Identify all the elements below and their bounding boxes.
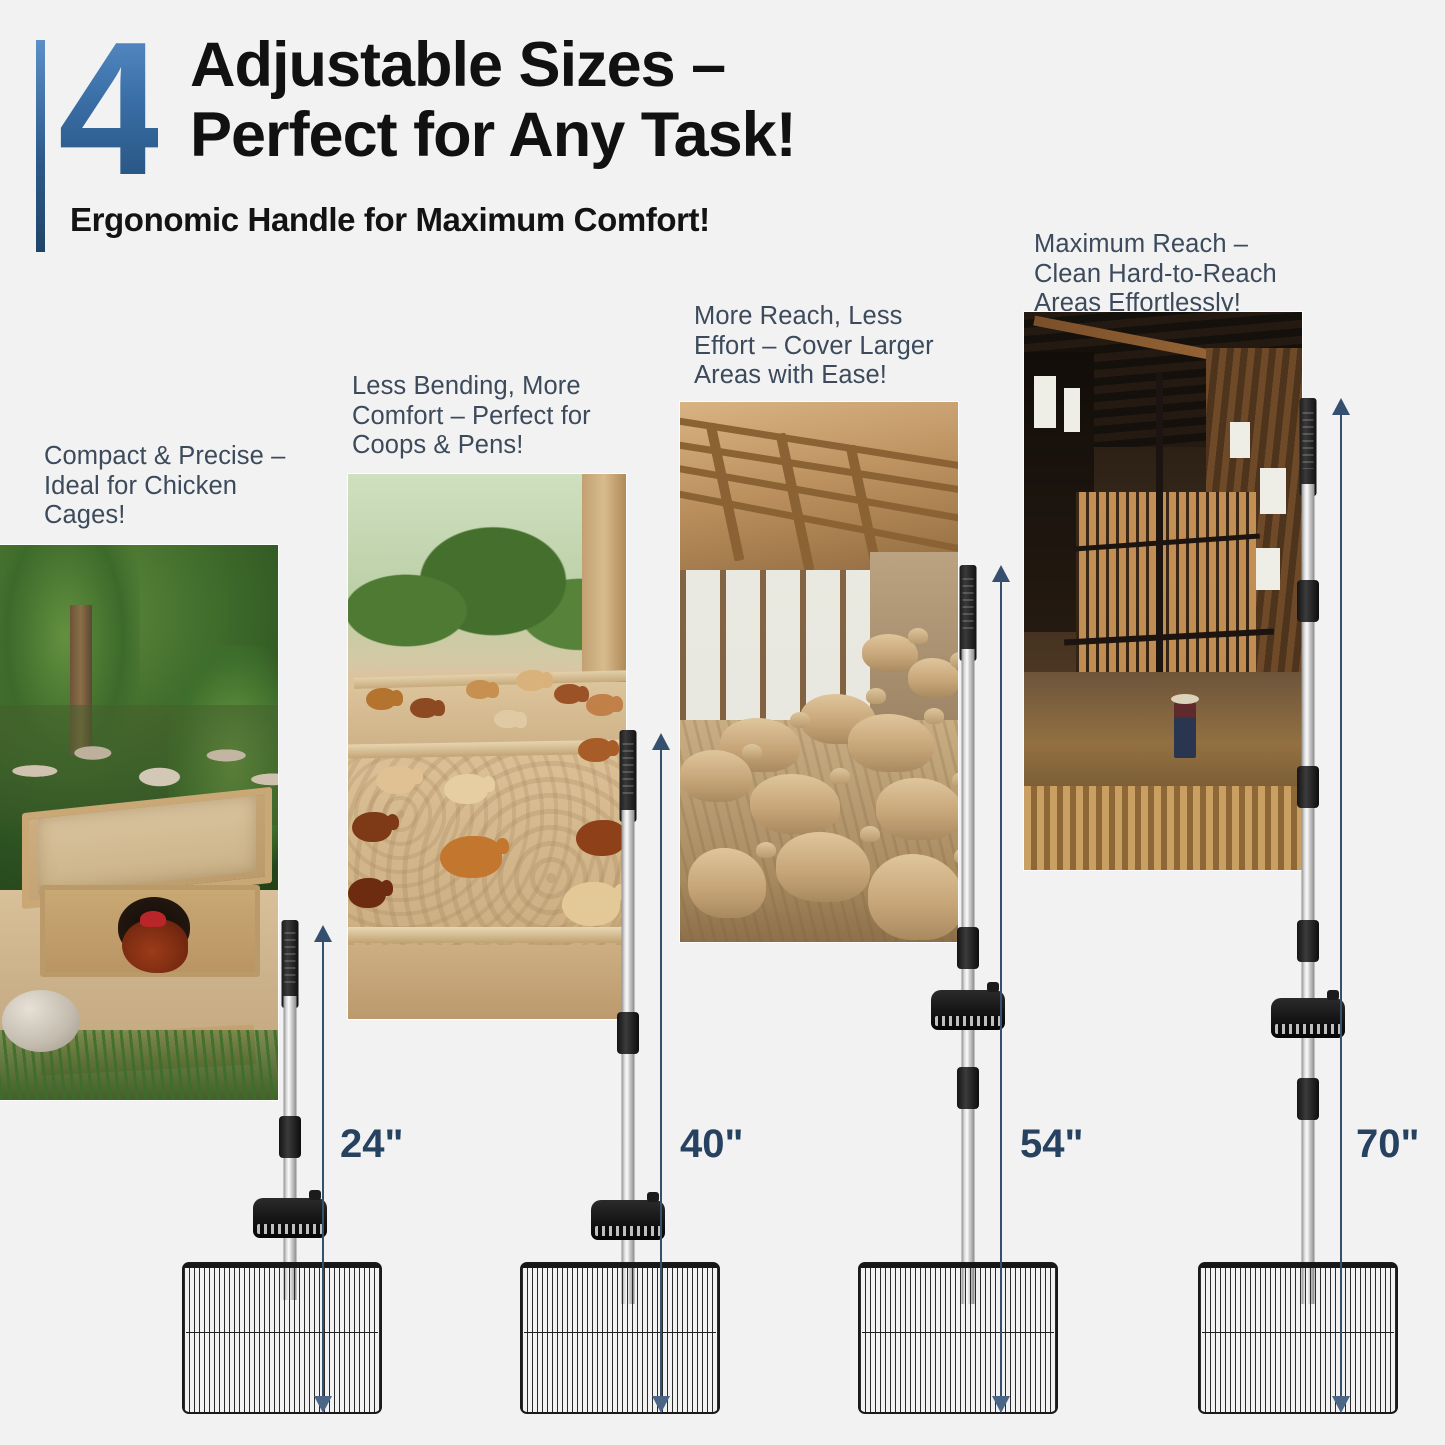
rake-head-54 xyxy=(858,1262,1058,1414)
dimension-arrow-40 xyxy=(651,733,671,1413)
telescoping-tube xyxy=(962,649,975,1304)
rake-head-70 xyxy=(1198,1262,1398,1414)
rake-head-24 xyxy=(182,1262,382,1414)
photo-goats-in-barn xyxy=(680,402,958,942)
big-number-4: 4 xyxy=(58,14,158,204)
dimension-arrow-24 xyxy=(313,925,333,1413)
measurement-label-24: 24" xyxy=(340,1122,403,1167)
caption-panel-54: More Reach, Less Effort – Cover Larger A… xyxy=(694,302,994,391)
locking-collar xyxy=(957,927,979,969)
dimension-arrow-70 xyxy=(1331,398,1351,1413)
locking-collar xyxy=(1297,766,1319,808)
handle-grip-icon xyxy=(1300,398,1317,496)
handle-grip-icon xyxy=(620,730,637,822)
rake-head-40 xyxy=(520,1262,720,1414)
locking-collar xyxy=(957,1067,979,1109)
dimension-arrow-54 xyxy=(991,565,1011,1413)
subheading: Ergonomic Handle for Maximum Comfort! xyxy=(70,200,710,240)
locking-collar xyxy=(1297,580,1319,622)
handle-grip-icon xyxy=(282,920,299,1008)
header-block: 4 Adjustable Sizes – Perfect for Any Tas… xyxy=(0,0,980,270)
infographic-canvas: 4 Adjustable Sizes – Perfect for Any Tas… xyxy=(0,0,1445,1445)
headline-line-2: Perfect for Any Task! xyxy=(190,100,980,170)
caption-panel-24: Compact & Precise – Ideal for Chicken Ca… xyxy=(44,442,324,531)
measurement-label-54: 54" xyxy=(1020,1122,1083,1167)
photo-chicken-dust-bath xyxy=(0,545,278,1100)
accent-bar-decoration xyxy=(36,40,45,252)
handle-grip-icon xyxy=(960,565,977,661)
measurement-label-70: 70" xyxy=(1356,1122,1419,1167)
locking-collar xyxy=(1297,920,1319,962)
locking-collar xyxy=(1297,1078,1319,1120)
page-title: Adjustable Sizes – Perfect for Any Task! xyxy=(190,30,980,170)
headline-line-1: Adjustable Sizes – xyxy=(190,30,725,100)
locking-collar xyxy=(279,1116,301,1158)
locking-collar xyxy=(617,1012,639,1054)
measurement-label-40: 40" xyxy=(680,1122,743,1167)
caption-panel-70: Maximum Reach – Clean Hard-to-Reach Area… xyxy=(1034,230,1334,319)
caption-panel-40: Less Bending, More Comfort – Perfect for… xyxy=(352,372,642,461)
